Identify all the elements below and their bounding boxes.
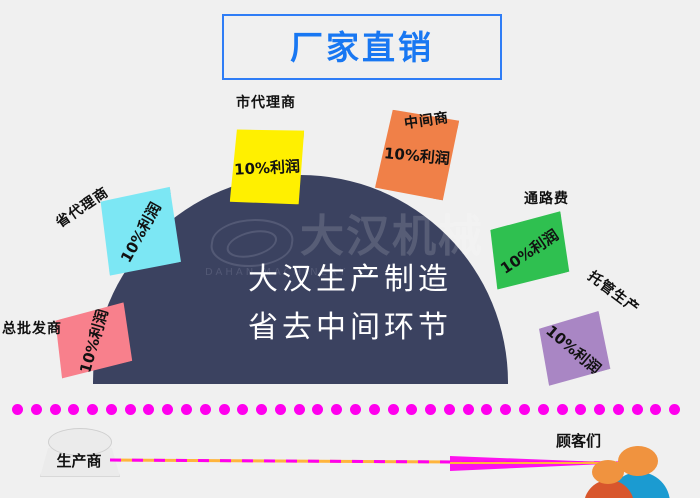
separator-dot [350, 404, 361, 415]
separator-dot [125, 404, 136, 415]
producer-label: 生产商 [40, 448, 118, 472]
center-slogan: 大汉生产制造 省去中间环节 [200, 256, 500, 352]
separator-dot [331, 404, 342, 415]
separator-dot [463, 404, 474, 415]
separator-dot [632, 404, 643, 415]
separator-dot [369, 404, 380, 415]
label-wholesaler: 总批发商 [2, 318, 62, 338]
profit-card-city-agent[interactable]: 10%利润 [226, 126, 308, 208]
separator-dot [575, 404, 586, 415]
separator-dot [481, 404, 492, 415]
separator-dot [406, 404, 417, 415]
separator-dot [143, 404, 154, 415]
separator-dot [162, 404, 173, 415]
infographic-canvas: 厂家直销 大汉机械 DAHAN MACHINERY 大汉生产制造 省去中间环节 … [0, 0, 700, 498]
separator-dot [87, 404, 98, 415]
label-city-agent: 市代理商 [236, 92, 296, 112]
label-channel-fee: 通路费 [524, 188, 569, 208]
separator-dot [181, 404, 192, 415]
separator-dot [31, 404, 42, 415]
separator-dot [500, 404, 511, 415]
separator-dot [594, 404, 605, 415]
dotted-separator [12, 404, 688, 418]
separator-dot [425, 404, 436, 415]
separator-dot [388, 404, 399, 415]
separator-dot [669, 404, 680, 415]
profit-card-value: 10%利润 [226, 126, 308, 208]
separator-dot [237, 404, 248, 415]
separator-dot [294, 404, 305, 415]
separator-dot [538, 404, 549, 415]
separator-dot [106, 404, 117, 415]
separator-dot [519, 404, 530, 415]
customers-group-icon [578, 446, 686, 498]
separator-dot [50, 404, 61, 415]
person-head-front [592, 460, 624, 484]
flow-arrow-icon [110, 452, 630, 474]
separator-dot [256, 404, 267, 415]
separator-dot [650, 404, 661, 415]
separator-dot [613, 404, 624, 415]
separator-dot [12, 404, 23, 415]
flow-arrow [110, 452, 630, 474]
person-head-back [618, 446, 658, 476]
separator-dot [275, 404, 286, 415]
separator-dot [557, 404, 568, 415]
slogan-line-1: 大汉生产制造 [200, 256, 500, 304]
slogan-line-2: 省去中间环节 [200, 304, 500, 352]
separator-dot [444, 404, 455, 415]
separator-dot [68, 404, 79, 415]
separator-dot [200, 404, 211, 415]
separator-dot [312, 404, 323, 415]
separator-dot [219, 404, 230, 415]
